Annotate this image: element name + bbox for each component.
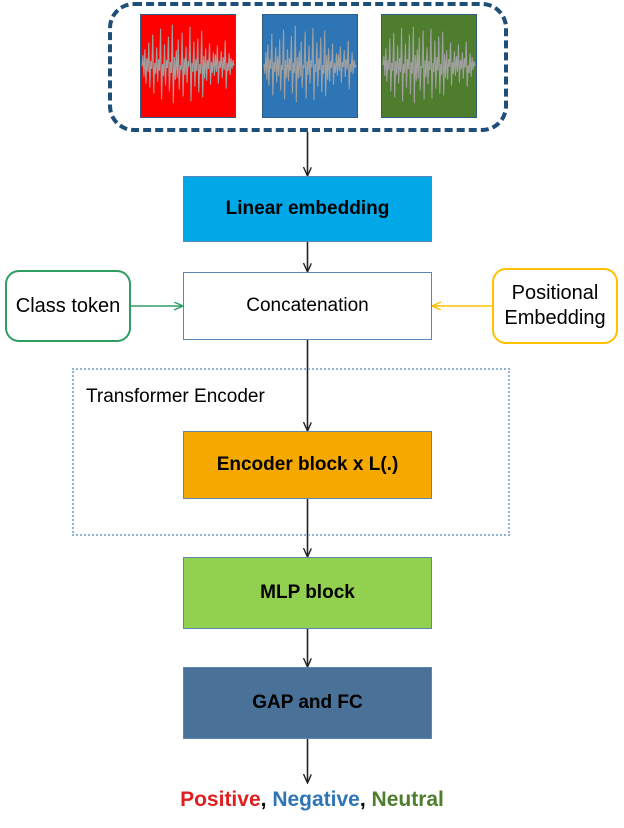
positional-embedding-box[interactable]: Positional Embedding <box>492 268 618 344</box>
signal-waveform-blue <box>263 15 357 117</box>
signal-patch-blue <box>262 14 358 118</box>
linear-embedding-block[interactable]: Linear embedding <box>183 176 432 242</box>
output-class-neutral: Neutral <box>372 788 444 811</box>
positional-embedding-line2: Embedding <box>504 306 605 331</box>
output-separator-1: , <box>261 788 273 811</box>
signal-patch-red <box>140 14 236 118</box>
signal-patch-green <box>381 14 477 118</box>
mlp-block[interactable]: MLP block <box>183 557 432 629</box>
vit-architecture-diagram: Transformer Encoder Linear embedding Con… <box>0 0 624 828</box>
signal-waveform-green <box>382 15 476 117</box>
encoder-block[interactable]: Encoder block x L(.) <box>183 431 432 499</box>
output-class-negative: Negative <box>272 788 360 811</box>
positional-embedding-line1: Positional <box>512 281 599 306</box>
output-classes-label: Positive, Negative, Neutral <box>0 788 624 812</box>
concatenation-block[interactable]: Concatenation <box>183 272 432 340</box>
signal-waveform-red <box>141 15 235 117</box>
gap-and-fc-block[interactable]: GAP and FC <box>183 667 432 739</box>
transformer-encoder-label: Transformer Encoder <box>86 386 265 408</box>
output-separator-2: , <box>360 788 372 811</box>
output-class-positive: Positive <box>180 788 261 811</box>
class-token-box[interactable]: Class token <box>5 270 131 342</box>
